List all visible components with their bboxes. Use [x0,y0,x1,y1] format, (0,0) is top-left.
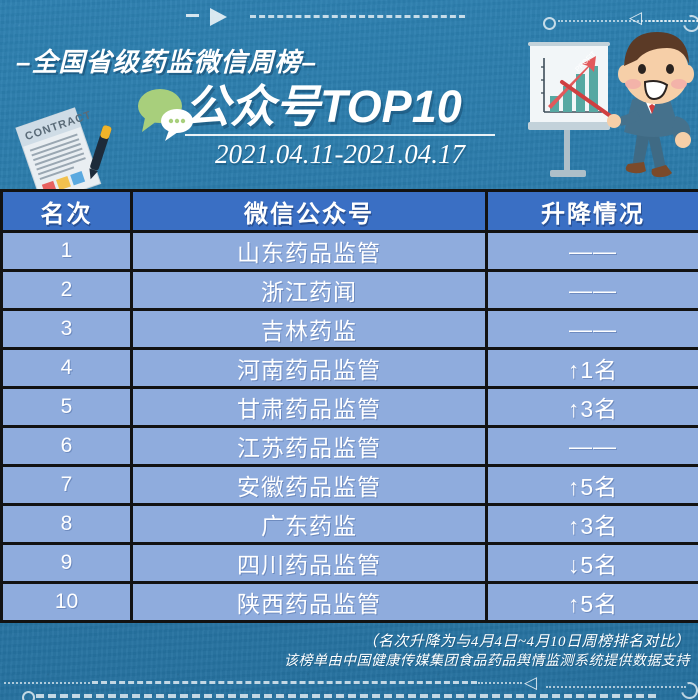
cell-change: —— [487,232,698,271]
footer-credit: 该榜单由中国健康传媒集团食品药品舆情监测系统提供数据支持 [0,652,690,672]
dashed-line [250,15,465,18]
title-block: 公众号TOP10 2021.04.11-2021.04.17 [185,82,505,170]
cell-change: ↑5名 [487,466,698,505]
cell-rank: 8 [2,505,132,544]
contract-document-illustration: CONTRACT [8,106,118,196]
cell-change: —— [487,271,698,310]
table-row[interactable]: 8 广东药监 ↑3名 [2,505,698,544]
cell-change: ↑3名 [487,388,698,427]
cell-account: 四川药品监管 [132,544,487,583]
dashed-line [92,681,477,684]
table-row[interactable]: 6 江苏药品监管 —— [2,427,698,466]
table-row[interactable]: 4 河南药品监管 ↑1名 [2,349,698,388]
dotted-line [4,682,90,684]
table-body: 1 山东药品监管 —— 2 浙江药闻 —— 3 吉林药监 —— 4 河南药品监管… [2,232,698,622]
cell-change: ↑3名 [487,505,698,544]
page-title: 公众号TOP10 [185,82,505,132]
table-row[interactable]: 2 浙江药闻 —— [2,271,698,310]
ranking-table: 名次 微信公众号 升降情况 1 山东药品监管 —— 2 浙江药闻 —— 3 吉林… [0,189,698,623]
dashed-line [36,694,656,698]
cell-rank: 1 [2,232,132,271]
footer-block: （名次升降为与4月4日~4月10日周榜排名对比） 该榜单由中国健康传媒集团食品药… [0,632,690,672]
date-range-label: 2021.04.11-2021.04.17 [185,139,495,170]
cell-account: 陕西药品监管 [132,583,487,622]
cell-rank: 7 [2,466,132,505]
dotted-line [478,682,522,684]
footer-note: （名次升降为与4月4日~4月10日周榜排名对比） [0,632,690,652]
bottom-decoration-row: ◁ [0,678,698,698]
cell-rank: 9 [2,544,132,583]
spiral-icon [678,679,698,700]
table-row[interactable]: 3 吉林药监 —— [2,310,698,349]
table-row[interactable]: 1 山东药品监管 —— [2,232,698,271]
cell-rank: 3 [2,310,132,349]
cell-change: ↑1名 [487,349,698,388]
cell-account: 河南药品监管 [132,349,487,388]
cell-change: —— [487,427,698,466]
table-row[interactable]: 10 陕西药品监管 ↑5名 [2,583,698,622]
dotted-line [546,686,686,688]
presenter-chart-illustration: PROFIT [490,22,698,192]
title-divider [185,134,495,136]
cell-account: 江苏药品监管 [132,427,487,466]
cell-change: —— [487,310,698,349]
table-row[interactable]: 9 四川药品监管 ↓5名 [2,544,698,583]
column-header-change: 升降情况 [487,191,698,232]
cell-account: 广东药监 [132,505,487,544]
cell-account: 安徽药品监管 [132,466,487,505]
cell-change: ↑5名 [487,583,698,622]
column-header-account: 微信公众号 [132,191,487,232]
triangle-right-icon [210,8,227,26]
page-subtitle: –全国省级药监微信周榜– [16,42,317,79]
cell-account: 吉林药监 [132,310,487,349]
cell-rank: 5 [2,388,132,427]
cell-account: 山东药品监管 [132,232,487,271]
column-header-rank: 名次 [2,191,132,232]
triangle-left-hollow-icon: ◁ [524,674,537,691]
cell-rank: 2 [2,271,132,310]
cell-rank: 6 [2,427,132,466]
cell-rank: 4 [2,349,132,388]
ring-icon [22,691,35,700]
cell-rank: 10 [2,583,132,622]
table-header-row: 名次 微信公众号 升降情况 [2,191,698,232]
cell-account: 甘肃药品监管 [132,388,487,427]
table-row[interactable]: 7 安徽药品监管 ↑5名 [2,466,698,505]
cell-account: 浙江药闻 [132,271,487,310]
cell-change: ↓5名 [487,544,698,583]
poster-canvas: ◁ –全国省级药监微信周榜– 公众号TOP10 2021.04.11-2021.… [0,0,698,700]
table-row[interactable]: 5 甘肃药品监管 ↑3名 [2,388,698,427]
dash-mark-icon [186,14,199,17]
